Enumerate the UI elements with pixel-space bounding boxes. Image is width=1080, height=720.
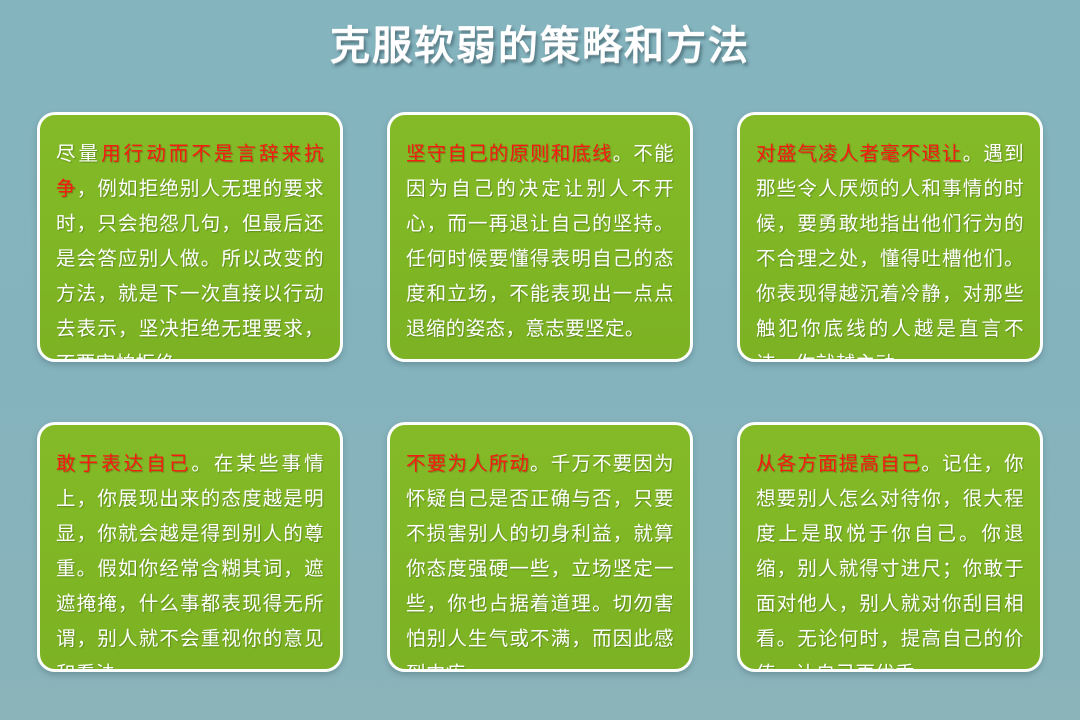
tip-card-4-lead-highlight: 敢于表达自己 [56,453,191,475]
tip-card-1-text: 尽量用行动而不是言辞来抗争，例如拒绝别人无理的要求时，只会抱怨几句，但最后还是会… [56,137,324,362]
tip-card-1-body: ，例如拒绝别人无理的要求时，只会抱怨几句，但最后还是会答应别人做。所以改变的方法… [56,178,324,362]
page-title: 克服软弱的策略和方法 [330,22,750,70]
tip-card-3-body: 。遇到那些令人厌烦的人和事情的时候，要勇敢地指出他们行为的不合理之处，懂得吐槽他… [756,143,1024,362]
tip-card-3-lead-highlight: 对盛气凌人者毫不退让 [756,143,963,165]
tip-card-4-text: 敢于表达自己。在某些事情上，你展现出来的态度越是明显，你就会越是得到别人的尊重。… [56,447,324,672]
tip-card-2-text: 坚守自己的原则和底线。不能因为自己的决定让别人不开心，而一再退让自己的坚持。任何… [406,137,674,347]
tip-card-5-lead-highlight: 不要为人所动 [406,453,530,475]
tip-card-4: 敢于表达自己。在某些事情上，你展现出来的态度越是明显，你就会越是得到别人的尊重。… [37,422,343,672]
tip-card-5-body: 。千万不要因为怀疑自己是否正确与否，只要不损害别人的切身利益，就算你态度强硬一些… [406,453,674,672]
tip-card-6-lead-highlight: 从各方面提高自己 [756,453,921,475]
page-title-container: 克服软弱的策略和方法 [0,22,1080,70]
tip-card-3-text: 对盛气凌人者毫不退让。遇到那些令人厌烦的人和事情的时候，要勇敢地指出他们行为的不… [756,137,1024,362]
tip-card-2: 坚守自己的原则和底线。不能因为自己的决定让别人不开心，而一再退让自己的坚持。任何… [387,112,693,362]
tip-card-2-body: 。不能因为自己的决定让别人不开心，而一再退让自己的坚持。任何时候要懂得表明自己的… [406,143,674,340]
tip-card-6-body: 。记住，你想要别人怎么对待你，很大程度上是取悦于你自己。你退缩，别人就得寸进尺；… [756,453,1024,672]
tip-card-5: 不要为人所动。千万不要因为怀疑自己是否正确与否，只要不损害别人的切身利益，就算你… [387,422,693,672]
tip-card-1: 尽量用行动而不是言辞来抗争，例如拒绝别人无理的要求时，只会抱怨几句，但最后还是会… [37,112,343,362]
tip-card-4-body: 。在某些事情上，你展现出来的态度越是明显，你就会越是得到别人的尊重。假如你经常含… [56,453,324,672]
tip-card-2-lead-highlight: 坚守自己的原则和底线 [406,143,613,165]
tip-card-6: 从各方面提高自己。记住，你想要别人怎么对待你，很大程度上是取悦于你自己。你退缩，… [737,422,1043,672]
poster-canvas: 克服软弱的策略和方法 尽量用行动而不是言辞来抗争，例如拒绝别人无理的要求时，只会… [0,0,1080,720]
tips-card-grid: 尽量用行动而不是言辞来抗争，例如拒绝别人无理的要求时，只会抱怨几句，但最后还是会… [37,112,1043,672]
tip-card-3: 对盛气凌人者毫不退让。遇到那些令人厌烦的人和事情的时候，要勇敢地指出他们行为的不… [737,112,1043,362]
tip-card-5-text: 不要为人所动。千万不要因为怀疑自己是否正确与否，只要不损害别人的切身利益，就算你… [406,447,674,672]
tip-card-6-text: 从各方面提高自己。记住，你想要别人怎么对待你，很大程度上是取悦于你自己。你退缩，… [756,447,1024,672]
tip-card-1-lead-plain: 尽量 [56,143,101,165]
